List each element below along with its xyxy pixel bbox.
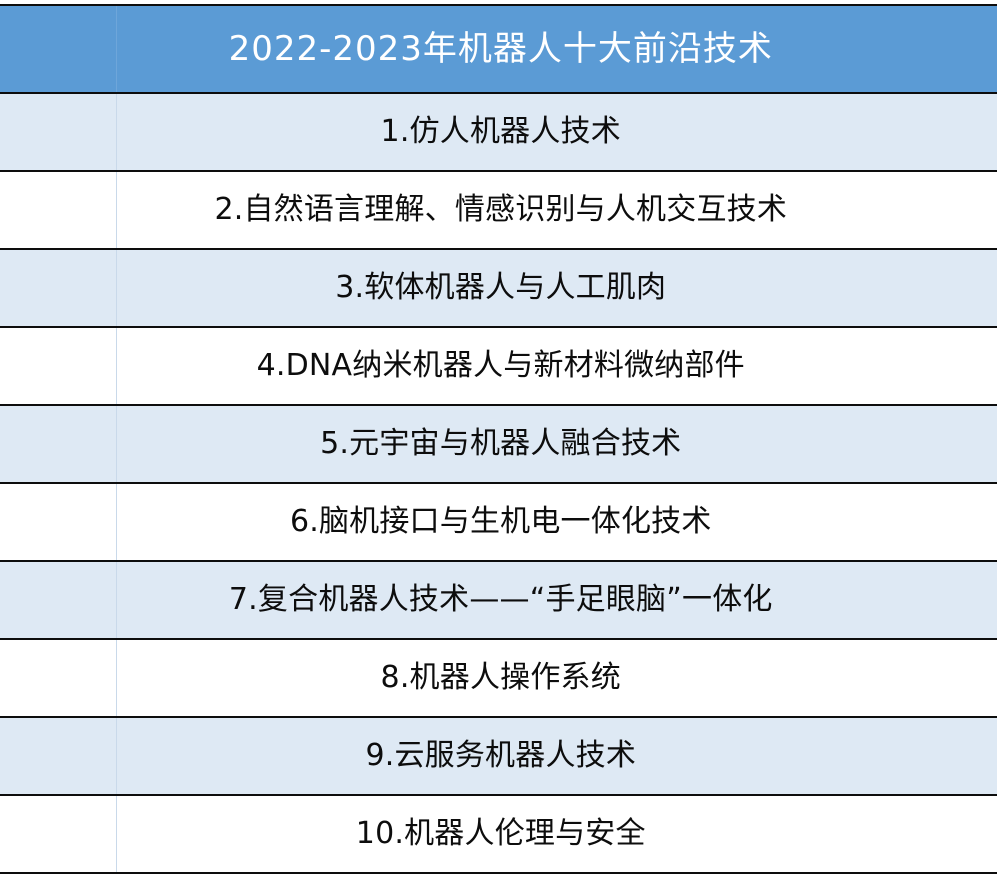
table-row[interactable]: 6.脑机接口与生机电一体化技术 bbox=[0, 483, 997, 561]
table-cell-technology-6[interactable]: 6.脑机接口与生机电一体化技术 bbox=[116, 483, 997, 561]
top-technologies-table: 2022-2023年机器人十大前沿技术 1.仿人机器人技术 2.自然语言理解、情… bbox=[0, 4, 997, 874]
technology-label: 4.DNA纳米机器人与新材料微纳部件 bbox=[61, 349, 942, 383]
table-cell-technology-8[interactable]: 8.机器人操作系统 bbox=[116, 639, 997, 717]
technology-label: 3.软体机器人与人工肌肉 bbox=[61, 271, 942, 305]
table-cell-technology-2[interactable]: 2.自然语言理解、情感识别与人机交互技术 bbox=[116, 171, 997, 249]
technology-label: 6.脑机接口与生机电一体化技术 bbox=[61, 505, 942, 539]
table-cell-technology-5[interactable]: 5.元宇宙与机器人融合技术 bbox=[116, 405, 997, 483]
table-row[interactable]: 1.仿人机器人技术 bbox=[0, 93, 997, 171]
table-body: 2022-2023年机器人十大前沿技术 1.仿人机器人技术 2.自然语言理解、情… bbox=[0, 5, 997, 873]
technology-label: 8.机器人操作系统 bbox=[61, 661, 942, 695]
table-cell-technology-4[interactable]: 4.DNA纳米机器人与新材料微纳部件 bbox=[116, 327, 997, 405]
table-title-cell: 2022-2023年机器人十大前沿技术 bbox=[116, 5, 997, 93]
table-row[interactable]: 9.云服务机器人技术 bbox=[0, 717, 997, 795]
technology-label: 10.机器人伦理与安全 bbox=[61, 817, 942, 851]
technology-label: 2.自然语言理解、情感识别与人机交互技术 bbox=[61, 193, 942, 227]
table-row[interactable]: 10.机器人伦理与安全 bbox=[0, 795, 997, 873]
technology-label: 7.复合机器人技术——“手足眼脑”一体化 bbox=[61, 583, 942, 617]
spreadsheet-canvas: 2022-2023年机器人十大前沿技术 1.仿人机器人技术 2.自然语言理解、情… bbox=[0, 0, 1000, 860]
table-cell-technology-3[interactable]: 3.软体机器人与人工肌肉 bbox=[116, 249, 997, 327]
table-cell-technology-7[interactable]: 7.复合机器人技术——“手足眼脑”一体化 bbox=[116, 561, 997, 639]
table-cell-technology-1[interactable]: 1.仿人机器人技术 bbox=[116, 93, 997, 171]
table-row[interactable]: 4.DNA纳米机器人与新材料微纳部件 bbox=[0, 327, 997, 405]
table-cell-technology-10[interactable]: 10.机器人伦理与安全 bbox=[116, 795, 997, 873]
technology-label: 5.元宇宙与机器人融合技术 bbox=[61, 427, 942, 461]
technology-label: 1.仿人机器人技术 bbox=[61, 115, 942, 149]
technology-label: 9.云服务机器人技术 bbox=[61, 739, 942, 773]
table-row[interactable]: 3.软体机器人与人工肌肉 bbox=[0, 249, 997, 327]
table-header-row: 2022-2023年机器人十大前沿技术 bbox=[0, 5, 997, 93]
table-row[interactable]: 2.自然语言理解、情感识别与人机交互技术 bbox=[0, 171, 997, 249]
table-row[interactable]: 7.复合机器人技术——“手足眼脑”一体化 bbox=[0, 561, 997, 639]
table-row[interactable]: 8.机器人操作系统 bbox=[0, 639, 997, 717]
table-row[interactable]: 5.元宇宙与机器人融合技术 bbox=[0, 405, 997, 483]
page-title: 2022-2023年机器人十大前沿技术 bbox=[61, 30, 942, 68]
table-cell-technology-9[interactable]: 9.云服务机器人技术 bbox=[116, 717, 997, 795]
